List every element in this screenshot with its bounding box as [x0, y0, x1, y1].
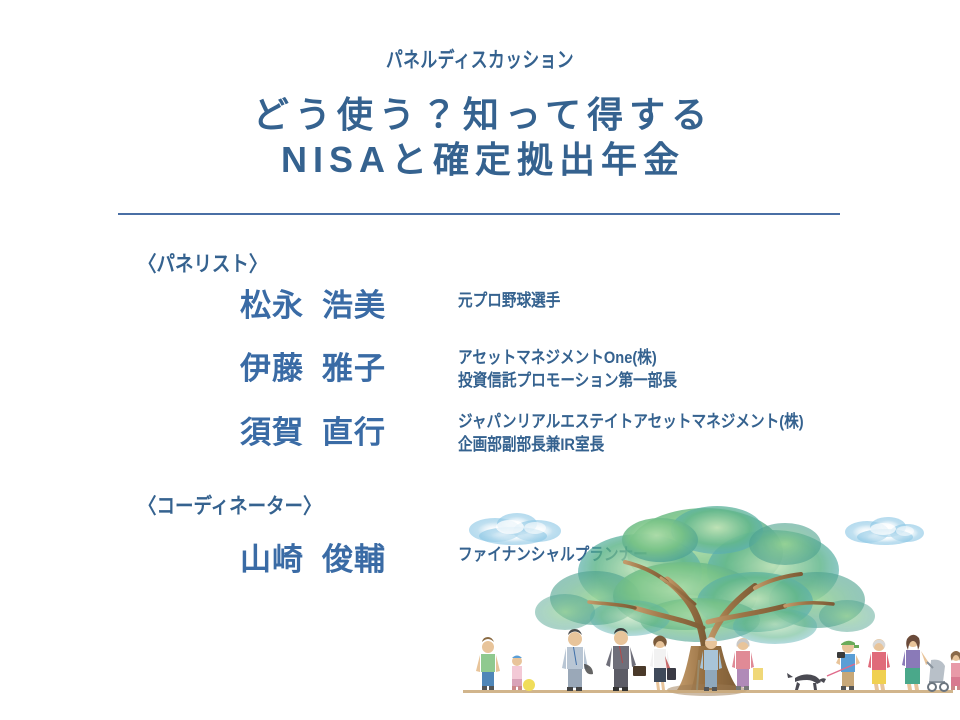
figure-boy-with-camera: [827, 641, 860, 690]
family-name: 山崎: [240, 542, 304, 577]
section-label-coordinator: 〈コーディネーター〉: [138, 490, 322, 520]
figure-elderly-woman-with-bag: [732, 638, 763, 690]
figure-man-green-shirt: [476, 637, 500, 690]
figure-elderly-woman-yellow-skirt: [868, 639, 890, 690]
figure-businesswoman: [650, 636, 676, 691]
family-name: 松永: [240, 288, 304, 323]
panelist-name: 松永浩美: [138, 280, 386, 325]
section-label-panelist: 〈パネリスト〉: [138, 248, 267, 278]
figure-little-girl: [951, 651, 960, 690]
family-name: 伊藤: [240, 351, 304, 386]
panelist-affiliation: 元プロ野球選手: [458, 290, 948, 313]
affiliation-line: 元プロ野球選手: [458, 290, 879, 313]
panelist-row: 須賀直行 ジャパンリアルエステイトアセットマネジメント(株) 企画部副部長兼IR…: [138, 407, 948, 463]
panelist-row: 伊藤雅子 アセットマネジメントOne(株) 投資信託プロモーション第一部長: [138, 343, 948, 399]
panelist-row: 松永浩美 元プロ野球選手: [138, 280, 948, 336]
stroller: [927, 660, 948, 691]
figure-mother-with-stroller: [902, 635, 948, 691]
watercolor-tree-illustration: [455, 500, 960, 720]
slide-title: どう使う？知って得する NISAと確定拠出年金: [0, 92, 960, 183]
slide-kicker: パネルディスカッション: [96, 44, 864, 74]
family-name: 須賀: [240, 415, 304, 450]
title-line-2: NISAと確定拠出年金: [0, 137, 960, 182]
coordinator-affiliation: ファイナンシャルプランナー: [458, 544, 948, 567]
coordinator-name: 山崎俊輔: [138, 534, 386, 579]
panelist-affiliation: ジャパンリアルエステイトアセットマネジメント(株) 企画部副部長兼IR室長: [458, 411, 948, 457]
given-name: 浩美: [322, 288, 386, 323]
figure-elderly-man-with-cane: [697, 637, 722, 691]
ground-line: [463, 690, 953, 693]
panelist-name: 須賀直行: [138, 407, 386, 452]
given-name: 雅子: [322, 351, 386, 386]
panelist-name: 伊藤雅子: [138, 343, 386, 388]
slide-canvas: パネルディスカッション どう使う？知って得する NISAと確定拠出年金 〈パネリ…: [0, 0, 960, 720]
panelist-affiliation: アセットマネジメントOne(株) 投資信託プロモーション第一部長: [458, 347, 948, 393]
header-divider: [118, 213, 840, 215]
affiliation-line: アセットマネジメントOne(株): [458, 347, 879, 370]
title-line-1: どう使う？知って得する: [0, 92, 960, 137]
coordinator-row: 山崎俊輔 ファイナンシャルプランナー: [138, 534, 948, 590]
figure-businessman-with-briefcase: [606, 628, 646, 691]
figure-businessman-walking: [562, 629, 593, 691]
figure-dog-on-leash: [787, 673, 826, 690]
tree-trunk: [667, 646, 747, 696]
figure-toddler-with-ball: [512, 656, 535, 692]
affiliation-line: 投資信託プロモーション第一部長: [458, 370, 879, 393]
given-name: 俊輔: [322, 542, 386, 577]
affiliation-line: 企画部副部長兼IR室長: [458, 434, 879, 457]
given-name: 直行: [322, 415, 386, 450]
affiliation-line: ジャパンリアルエステイトアセットマネジメント(株): [458, 411, 879, 434]
affiliation-line: ファイナンシャルプランナー: [458, 544, 879, 567]
